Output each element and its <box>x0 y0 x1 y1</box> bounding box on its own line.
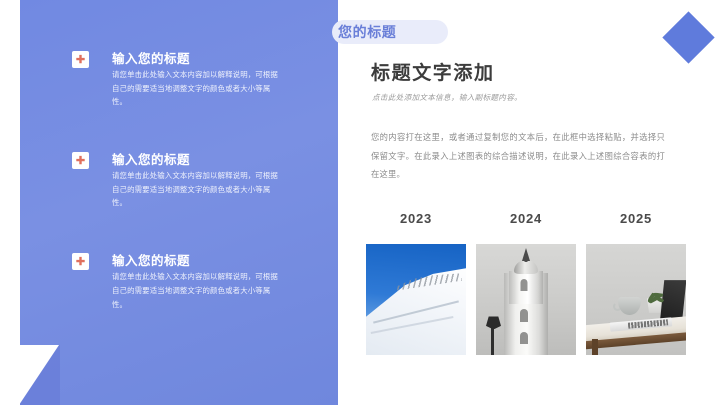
eyebrow-label: 您的标题 <box>332 22 396 42</box>
eyebrow-heading: 您的标题 <box>332 20 396 44</box>
feature-item-1[interactable]: 输入您的标题 请您单击此处输入文本内容加以解释说明，可根据自己的需要适当地调整文… <box>72 50 312 109</box>
plus-icon <box>72 152 89 169</box>
cup-handle <box>613 302 622 311</box>
tower-window <box>520 309 528 322</box>
right-content-panel: 您的标题 标题文字添加 点击此处添加文本信息，输入副标题内容。 您的内容打在这里… <box>338 0 720 405</box>
plus-icon <box>72 51 89 68</box>
year-label-2025: 2025 <box>586 211 686 226</box>
feature-item-3[interactable]: 输入您的标题 请您单击此处输入文本内容加以解释说明，可根据自己的需要适当地调整文… <box>72 252 312 311</box>
year-label-2023: 2023 <box>366 211 466 226</box>
left-blue-panel: 输入您的标题 请您单击此处输入文本内容加以解释说明，可根据自己的需要适当地调整文… <box>20 0 338 405</box>
photo-gallery-row <box>366 244 686 355</box>
feature-description: 请您单击此处输入文本内容加以解释说明，可根据自己的需要适当地调整文字的颜色或者大… <box>112 169 284 210</box>
panel-corner-band <box>20 0 60 405</box>
feature-description: 请您单击此处输入文本内容加以解释说明，可根据自己的需要适当地调整文字的颜色或者大… <box>112 270 284 311</box>
plus-icon <box>72 253 89 270</box>
page-title: 标题文字添加 <box>371 58 495 85</box>
tower-window <box>520 332 528 344</box>
desk-leg <box>592 339 598 355</box>
photo-bell-tower <box>476 244 576 355</box>
page-subtitle: 点击此处添加文本信息，输入副标题内容。 <box>372 92 522 103</box>
feature-title: 输入您的标题 <box>112 254 190 268</box>
year-label-2024: 2024 <box>476 211 576 226</box>
year-label-row: 2023 2024 2025 <box>366 211 686 226</box>
feature-description: 请您单击此处输入文本内容加以解释说明，可根据自己的需要适当地调整文字的颜色或者大… <box>112 68 284 109</box>
blue-diamond-icon <box>662 11 714 63</box>
body-paragraph: 您的内容打在这里，或者通过复制您的文本后，在此框中选择粘贴，并选择只保留文字。在… <box>371 128 665 184</box>
presentation-slide: 输入您的标题 请您单击此处输入文本内容加以解释说明，可根据自己的需要适当地调整文… <box>0 0 720 405</box>
photo-desk-workspace <box>586 244 686 355</box>
feature-item-2[interactable]: 输入您的标题 请您单击此处输入文本内容加以解释说明，可根据自己的需要适当地调整文… <box>72 151 312 210</box>
photo-snowy-mountain <box>366 244 466 355</box>
street-lamp-post <box>491 326 494 355</box>
tower-window <box>521 279 528 291</box>
feature-title: 输入您的标题 <box>112 153 190 167</box>
feature-list: 输入您的标题 请您单击此处输入文本内容加以解释说明，可根据自己的需要适当地调整文… <box>72 50 312 353</box>
tower-spire <box>522 248 530 261</box>
feature-title: 输入您的标题 <box>112 52 190 66</box>
